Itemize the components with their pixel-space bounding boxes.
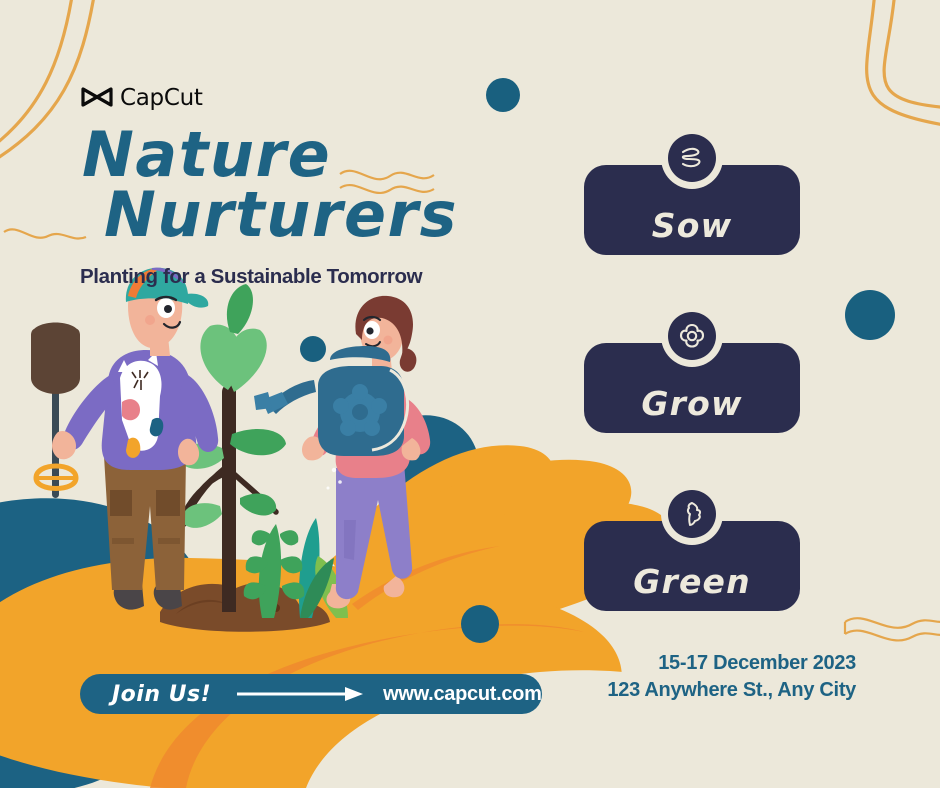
wave-left-icon xyxy=(4,229,86,238)
watering-can xyxy=(254,346,408,456)
water-droplets xyxy=(327,468,342,490)
join-us-label: Join Us! xyxy=(112,682,211,707)
person-with-shovel xyxy=(52,268,218,610)
dot-bottom-center xyxy=(461,605,499,643)
watering-can-flower-emblem xyxy=(333,384,387,436)
headline-line-2: Nurturers xyxy=(82,185,552,245)
brand-name: CapCut xyxy=(120,87,203,110)
headline-block: Nature Nurturers xyxy=(82,125,552,245)
step-card-grow[interactable]: Grow xyxy=(584,343,800,433)
headline-line-1: Nature xyxy=(82,125,552,185)
dot-top-center xyxy=(486,78,520,112)
shovel xyxy=(31,323,80,499)
join-us-bar[interactable]: Join Us! www.capcut.com xyxy=(80,674,542,714)
step-cards-list: Sow Grow xyxy=(584,165,800,611)
step-card-label: Grow xyxy=(641,387,742,420)
step-card-label: Green xyxy=(633,565,751,598)
dot-right-mid xyxy=(845,290,895,340)
step-card-sow[interactable]: Sow xyxy=(584,165,800,255)
flower-icon xyxy=(677,321,707,351)
arrow-right-icon xyxy=(237,686,367,702)
sapling-tree xyxy=(178,284,286,612)
headline-subtitle: Planting for a Sustainable Tomorrow xyxy=(80,265,422,289)
foreground-plants xyxy=(244,518,348,618)
cat xyxy=(118,352,163,458)
tree-leaves xyxy=(200,284,266,392)
step-card-green[interactable]: Green xyxy=(584,521,800,611)
blob-mid-right xyxy=(381,415,480,520)
blob-bottom-left xyxy=(0,498,209,788)
step-card-label: Sow xyxy=(652,209,733,242)
leaf-sprout-icon xyxy=(680,500,704,528)
person-with-watering-can xyxy=(302,296,430,609)
join-us-url[interactable]: www.capcut.com xyxy=(383,683,541,706)
brand-logo[interactable]: CapCut xyxy=(80,80,203,114)
step-card-badge xyxy=(661,305,723,367)
event-dates: 15-17 December 2023 xyxy=(607,650,856,677)
capcut-logo-icon xyxy=(80,84,114,110)
event-address: 123 Anywhere St., Any City xyxy=(607,677,856,704)
poster-canvas: CapCut Nature Nurturers Planting for a S… xyxy=(0,0,940,788)
curve-top-right-icon xyxy=(867,0,940,126)
step-card-badge xyxy=(661,127,723,189)
dot-illustration-left xyxy=(300,336,326,362)
wave-bottom-right-icon xyxy=(845,618,940,640)
event-info-block: 15-17 December 2023 123 Anywhere St., An… xyxy=(607,650,856,704)
step-card-badge xyxy=(661,483,723,545)
seed-squiggle-icon xyxy=(678,145,706,171)
soil-mound xyxy=(160,583,330,632)
